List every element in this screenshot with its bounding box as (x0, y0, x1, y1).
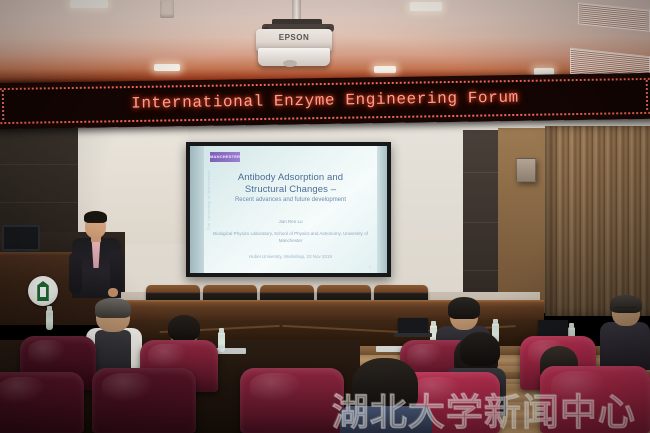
presenter-hand (108, 288, 118, 297)
auditorium-seat (240, 368, 344, 433)
presentation-slide: MANCHESTER The University of Manchester … (204, 146, 377, 273)
manchester-logo: MANCHESTER (210, 152, 240, 162)
lecture-hall-photo: EPSON International Enzyme Engineering F… (0, 0, 650, 433)
attendee-hair (460, 332, 500, 366)
downlight (374, 66, 396, 73)
wall-wood-column-right (498, 128, 550, 313)
slide-affiliation: Biological Physics Laboratory, School of… (212, 231, 369, 244)
slide-title: Antibody Adsorption and Structural Chang… (204, 172, 377, 196)
attendee-hair (95, 298, 131, 318)
downlight (70, 0, 108, 8)
slide-page-number: 1 (369, 264, 371, 269)
projection-screen: MANCHESTER The University of Manchester … (186, 142, 391, 277)
downlight (154, 64, 180, 71)
auditorium-seat (0, 372, 84, 433)
sprinkler-head (160, 0, 174, 18)
document-sheet (214, 348, 246, 354)
wall-speaker-icon (516, 158, 536, 182)
auditorium-seat (92, 368, 196, 433)
attendee-hair (448, 297, 480, 319)
water-bottle (46, 310, 53, 330)
wall-panel-left (0, 128, 78, 238)
presenter-glasses-icon (87, 222, 104, 226)
wall-panel-right (463, 130, 501, 310)
slide-title-line-2: Structural Changes – (204, 184, 377, 196)
projector-brand-label: EPSON (256, 33, 332, 42)
slide-venue: Hubei University, Workshop, 23 Nov 2019 (204, 254, 377, 259)
attendee-glasses-icon (614, 307, 636, 311)
attendee-hair (168, 315, 200, 341)
downlight (410, 2, 442, 11)
slide-subtitle: Recent advances and future development (204, 197, 377, 203)
screen-edge-left (190, 146, 204, 273)
ceiling: EPSON (0, 0, 650, 84)
news-center-watermark: 湖北大学新闻中心 (332, 393, 648, 433)
screen-surface: MANCHESTER The University of Manchester … (190, 146, 387, 273)
presenter-arm-left (69, 252, 82, 294)
laptop (398, 318, 428, 334)
university-crest-icon (28, 276, 58, 306)
led-banner-text: International Enzyme Engineering Forum (0, 87, 650, 115)
presenter-monitor (2, 225, 40, 251)
slide-author: Jian Ren Lu (204, 219, 377, 224)
curtain-shading (545, 126, 650, 316)
screen-edge-right (377, 146, 387, 273)
projector-lens (283, 60, 297, 67)
slide-title-line-1: Antibody Adsorption and (204, 172, 377, 184)
laptop-base (394, 333, 432, 337)
led-banner-panel: International Enzyme Engineering Forum (0, 78, 650, 124)
attendee-torso (600, 322, 650, 370)
